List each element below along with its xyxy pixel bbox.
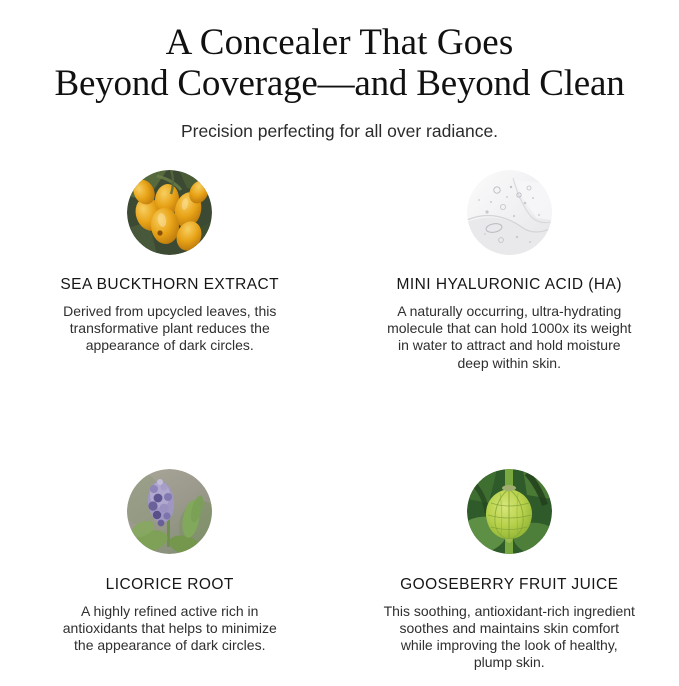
- header: A Concealer That Goes Beyond Coverage—an…: [0, 0, 679, 142]
- ingredient-title: GOOSEBERRY FRUIT JUICE: [364, 576, 656, 594]
- ingredient-description: A highly refined active rich in antioxid…: [52, 603, 288, 655]
- page-title-line-2: Beyond Coverage—and Beyond Clean: [18, 63, 661, 104]
- thumbnail-wrap: [24, 162, 316, 262]
- thumbnail-wrap: [364, 162, 656, 262]
- page-title: A Concealer That Goes Beyond Coverage—an…: [0, 22, 679, 104]
- hyaluronic-acid-gel-texture-photo: [467, 170, 552, 255]
- ingredient-card-gooseberry: GOOSEBERRY FRUIT JUICE This soothing, an…: [340, 462, 679, 672]
- thumbnail-wrap: [364, 462, 656, 562]
- ingredient-card-licorice-root: LICORICE ROOT A highly refined active ri…: [0, 462, 340, 672]
- ingredient-title: LICORICE ROOT: [24, 576, 316, 594]
- ingredient-card-sea-buckthorn: SEA BUCKTHORN EXTRACT Derived from upcyc…: [0, 162, 340, 372]
- ingredient-card-hyaluronic-acid: MINI HYALURONIC ACID (HA) A naturally oc…: [340, 162, 679, 372]
- ingredient-title: MINI HYALURONIC ACID (HA): [364, 276, 656, 294]
- ingredient-description: A naturally occurring, ultra-hydrating m…: [383, 303, 635, 372]
- licorice-root-flower-photo: [127, 469, 212, 554]
- ingredient-benefits-page: A Concealer That Goes Beyond Coverage—an…: [0, 0, 679, 679]
- ingredient-description: This soothing, antioxidant-rich ingredie…: [383, 603, 635, 672]
- ingredient-grid: SEA BUCKTHORN EXTRACT Derived from upcyc…: [0, 162, 679, 686]
- page-subtitle: Precision perfecting for all over radian…: [0, 120, 679, 142]
- sea-buckthorn-berries-photo: [127, 170, 212, 255]
- gooseberry-husk-fruit-photo: [467, 469, 552, 554]
- ingredient-description: Derived from upcycled leaves, this trans…: [52, 303, 288, 355]
- thumbnail-wrap: [24, 462, 316, 562]
- page-title-line-1: A Concealer That Goes: [18, 22, 661, 63]
- ingredient-title: SEA BUCKTHORN EXTRACT: [24, 276, 316, 294]
